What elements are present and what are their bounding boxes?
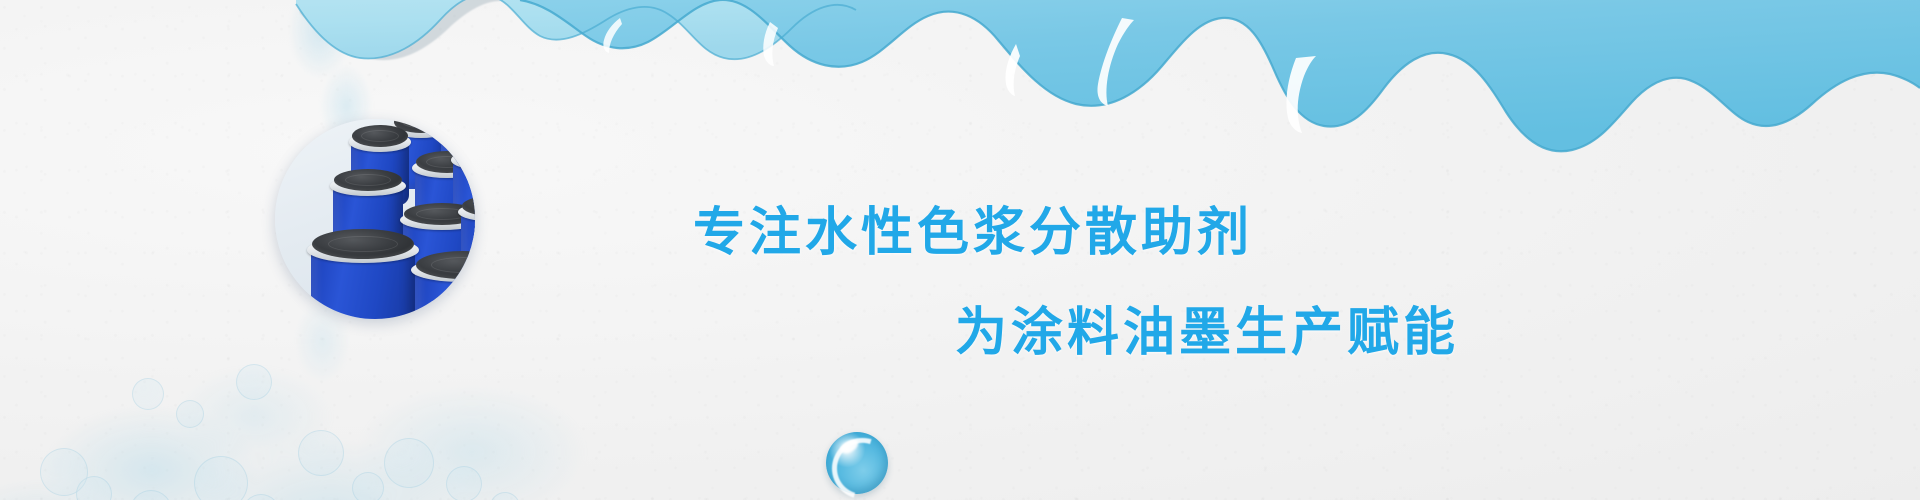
promo-banner: 专注水性色浆分散助剂 为涂料油墨生产赋能 — [0, 0, 1920, 500]
drum — [311, 249, 415, 319]
water-bubble — [826, 432, 888, 494]
product-photo-circle[interactable] — [275, 119, 475, 319]
drum — [415, 269, 475, 319]
chemical-drums-image — [275, 119, 475, 319]
